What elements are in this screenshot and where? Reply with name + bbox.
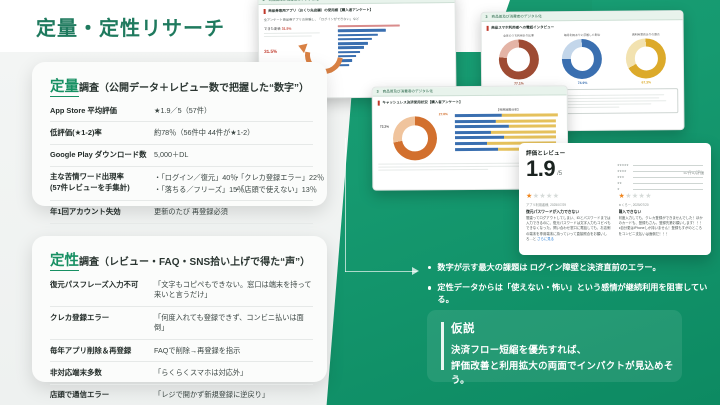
kw-label-line1: 主な苦情ワード出現率 bbox=[50, 172, 154, 183]
row-value: 「レジで開かず新規登録に逆戻り」 bbox=[154, 390, 313, 401]
doc1-head-title: 商品普及び消費者のデジタル化 bbox=[268, 0, 318, 2]
insight-bullets: 数字が示す最大の課題は ログイン障壁と決済直前のエラー。 定性データからは「使え… bbox=[428, 262, 708, 314]
row-value: 約78％（56件中 44件が★1-2） bbox=[154, 128, 313, 139]
row-label: 主な苦情ワード出現率 (57件レビューを手集計) bbox=[50, 172, 154, 193]
keyword-item: ・「ログイン／復元」40％ bbox=[154, 172, 234, 184]
review-meta: ★くろー, 2025/07/20 bbox=[619, 202, 705, 207]
doc2-donut-2 bbox=[562, 39, 602, 79]
list-item: 数字が示す最大の課題は ログイン障壁と決済直前のエラー。 bbox=[428, 262, 708, 273]
doc3-head-num: 3 bbox=[377, 90, 379, 94]
doc3-donut-big-label: 72.2% bbox=[380, 125, 389, 129]
quant-rows: App Store 平均評価 ★1.9／5（57件） 低評価(★1-2)率 約7… bbox=[50, 100, 313, 224]
row-value: 「文字もコピペもできない。窓口は端末を持って来いと言うだけ」 bbox=[154, 280, 313, 302]
bullet-dot-icon bbox=[428, 286, 431, 289]
doc2-donut-3-wrap: 再利用意向ありの割合 67.3% bbox=[626, 32, 666, 84]
hypothesis-line-2: 評価改善と利用拡大の両面でインパクトが見込めそう。 bbox=[451, 358, 682, 386]
doc2-donut-2-label: 74.9% bbox=[563, 81, 603, 85]
review-score-of: /5 bbox=[557, 171, 562, 177]
review-list: ★★★★★ アプリ利用者様, 2025/07/29 復元パスワードが入力できない… bbox=[526, 192, 704, 242]
quantitative-card: 定量調査（公開データ＋レビュー数で把握した“数字”） App Store 平均評… bbox=[32, 62, 327, 206]
review-stars: ★★★★★ bbox=[526, 192, 612, 200]
review-more-link[interactable]: さらに見る bbox=[537, 237, 554, 241]
doc3-section-label: キャッシュレス決済使用状況【購入者アンケート】 bbox=[382, 100, 462, 106]
doc1-bar-chart bbox=[338, 25, 400, 68]
hypothesis-line-1: 決済フロー短縮を優先すれば、 bbox=[451, 342, 586, 356]
row-label: Google Play ダウンロード数 bbox=[50, 150, 154, 161]
table-row-keywords: 主な苦情ワード出現率 (57件レビューを手集計) ・「ログイン／復元」40％ ・… bbox=[50, 167, 313, 202]
qual-rows: 復元パスフレーズ入力不可 「文字もコピペもできない。窓口は端末を持って来いと言う… bbox=[50, 274, 313, 405]
doc3-donut-small-label: 27.8% bbox=[439, 112, 448, 116]
bullet-dot-icon bbox=[428, 266, 431, 269]
review-body: 間違ってログアウトしてしまい、IDとパスワードまでは入力できるのに、復元パスワー… bbox=[526, 216, 612, 242]
keyword-item: ・「店頭で使えない」13％ bbox=[234, 184, 314, 196]
row-value: ★1.9／5（57件） bbox=[154, 106, 313, 117]
review-heading: 購入できない bbox=[619, 210, 705, 215]
doc2-donut-3-label: 67.3% bbox=[626, 80, 666, 84]
page-title: 定量・定性リサーチ bbox=[36, 12, 225, 41]
connector-horizontal-line bbox=[345, 271, 417, 272]
qualitative-card: 定性調査（レビュー・FAQ・SNS拾い上げで得た“声”） 復元パスフレーズ入力不… bbox=[32, 236, 327, 382]
keyword-grid: ・「ログイン／復元」40％ ・「クレカ登録エラー」22％ ・「落ちる／フリーズ」… bbox=[154, 172, 313, 195]
doc1-section: 商品券専用アプリ（おくり先店舗）の使用感【購入者アンケート】 bbox=[264, 7, 450, 14]
doc2-donut-3 bbox=[626, 38, 666, 78]
doc2-donut-1-wrap: 全体のうち利用あり比率 77.1% bbox=[498, 33, 538, 85]
row-value: FAQで削除→再登録を指示 bbox=[154, 346, 313, 357]
slide-root: 定量・定性リサーチ 3 商品普及び消費者のデジタル化 商品券専用アプリ（おくり先… bbox=[0, 0, 720, 405]
review-stars: ★★★★★ bbox=[619, 192, 705, 200]
doc3-donut-wrap: 27.8% 72.2% bbox=[378, 108, 452, 161]
row-label: 店頭で通信エラー bbox=[50, 390, 154, 401]
table-row: 毎年アプリ削除＆再登録 FAQで削除→再登録を指示 bbox=[50, 340, 313, 362]
review-item[interactable]: ★★★★★ ★くろー, 2025/07/20 購入できない 何度入力しても、クレ… bbox=[619, 192, 705, 242]
row-value: 「らくらくスマホは対応外」 bbox=[154, 368, 313, 379]
keyword-item: ・「落ちる／フリーズ」15％ bbox=[154, 184, 234, 196]
bullet-text: 定性データからは「使えない・怖い」という感情が継続利用を阻害している。 bbox=[437, 282, 708, 305]
review-heading: 復元パスワードが入力できない bbox=[526, 210, 612, 215]
keyword-item: ・「クレカ登録エラー」22％ bbox=[234, 172, 314, 184]
row-value: 「何度入れても登録できず、コンビニ払いは面倒」 bbox=[154, 313, 313, 335]
row-label: 毎年アプリ削除＆再登録 bbox=[50, 346, 154, 357]
row-label: App Store 平均評価 bbox=[50, 106, 154, 117]
row-value: 更新のたび 再登録必須 bbox=[154, 207, 313, 218]
quant-title-accent: 定量 bbox=[50, 79, 79, 97]
doc2-section-label: 商品スマホ利用者への電話インタビュー bbox=[491, 25, 554, 31]
table-row: Google Play ダウンロード数 5,000＋DL bbox=[50, 145, 313, 167]
review-meta: アプリ利用者様, 2025/07/29 bbox=[526, 202, 612, 207]
table-row: 低評価(★1-2)率 約78％（56件中 44件が★1-2） bbox=[50, 122, 313, 144]
review-item[interactable]: ★★★★★ アプリ利用者様, 2025/07/29 復元パスワードが入力できない… bbox=[526, 192, 612, 242]
table-row: 復元パスフレーズ入力不可 「文字もコピペもできない。窓口は端末を持って来いと言う… bbox=[50, 274, 313, 307]
bullet-text: 数字が示す最大の課題は ログイン障壁と決済直前のエラー。 bbox=[437, 262, 660, 273]
qual-title-sub: 調査（レビュー・FAQ・SNS拾い上げで得た“声”） bbox=[79, 257, 310, 268]
doc1-head-num: 3 bbox=[262, 0, 264, 2]
table-row: 非対応端末多数 「らくらくスマホは対応外」 bbox=[50, 362, 313, 384]
doc2-head-num: 3 bbox=[486, 15, 488, 19]
qual-card-title: 定性調査（レビュー・FAQ・SNS拾い上げで得た“声”） bbox=[50, 249, 310, 270]
row-label: クレカ登録エラー bbox=[50, 313, 154, 324]
doc2-donut-2-wrap: 毎月利用ありと回答した割合 74.9% bbox=[562, 33, 602, 85]
review-card[interactable]: 評価とレビュー 1.9 /5 57件の評価 ★★★★★ ★★★★ ★★★ ★★ … bbox=[519, 143, 711, 255]
table-row: クレカ登録エラー 「何度入れても登録できず、コンビニ払いは面倒」 bbox=[50, 307, 313, 340]
doc1-section-label: 商品券専用アプリ（おくり先店舗）の使用感【購入者アンケート】 bbox=[268, 8, 373, 14]
kw-label-line2: (57件レビューを手集計) bbox=[50, 183, 154, 194]
table-row: 年1回アカウント失効 更新のたび 再登録必須 bbox=[50, 201, 313, 223]
connector-vertical-line bbox=[345, 138, 346, 272]
review-score: 1.9 bbox=[526, 159, 555, 179]
table-row: App Store 平均評価 ★1.9／5（57件） bbox=[50, 100, 313, 122]
hypothesis-heading: 仮説 bbox=[451, 320, 475, 336]
hypothesis-box: 仮説 決済フロー短縮を優先すれば、 評価改善と利用拡大の両面でインパクトが見込め… bbox=[427, 310, 682, 382]
doc2-donut-1 bbox=[499, 39, 539, 79]
quant-card-title: 定量調査（公開データ＋レビュー数で把握した“数字”） bbox=[50, 75, 309, 96]
row-label: 復元パスフレーズ入力不可 bbox=[50, 280, 154, 291]
doc3-donut bbox=[393, 116, 437, 160]
doc2-head-title: 商品普及び消費者のデジタル化 bbox=[492, 14, 542, 19]
row-label: 年1回アカウント失効 bbox=[50, 207, 154, 218]
row-label: 非対応端末多数 bbox=[50, 368, 154, 379]
review-body: 何度入力しても、クレカ登録ができませんでした！ほかのカードも、登録もさん、登録先… bbox=[619, 216, 705, 236]
doc3-chart-caption: 【利用回数分布】 bbox=[455, 107, 562, 112]
quant-title-sub: 調査（公開データ＋レビュー数で把握した“数字”） bbox=[79, 83, 309, 94]
row-label: 低評価(★1-2)率 bbox=[50, 128, 154, 139]
doc2-section: 商品スマホ利用者への電話インタビュー bbox=[487, 24, 678, 31]
doc3-section: キャッシュレス決済使用状況【購入者アンケート】 bbox=[378, 99, 562, 105]
doc1-note: 全アンケート商品券アプリの体験し、「ログインができない」など bbox=[264, 15, 450, 22]
hypothesis-accent-bar bbox=[441, 322, 444, 370]
row-value: 5,000＋DL bbox=[154, 150, 313, 161]
qual-title-accent: 定性 bbox=[50, 253, 79, 271]
list-item: 定性データからは「使えない・怖い」という感情が継続利用を阻害している。 bbox=[428, 282, 708, 305]
doc3-head-title: 商品普及び消費者のデジタル化 bbox=[383, 89, 433, 94]
review-histogram: ★★★★★ ★★★★ ★★★ ★★ ★ bbox=[617, 163, 703, 193]
table-row: 店頭で通信エラー 「レジで開かず新規登録に逆戻り」 bbox=[50, 385, 313, 405]
connector-arrowhead-icon bbox=[412, 267, 419, 275]
